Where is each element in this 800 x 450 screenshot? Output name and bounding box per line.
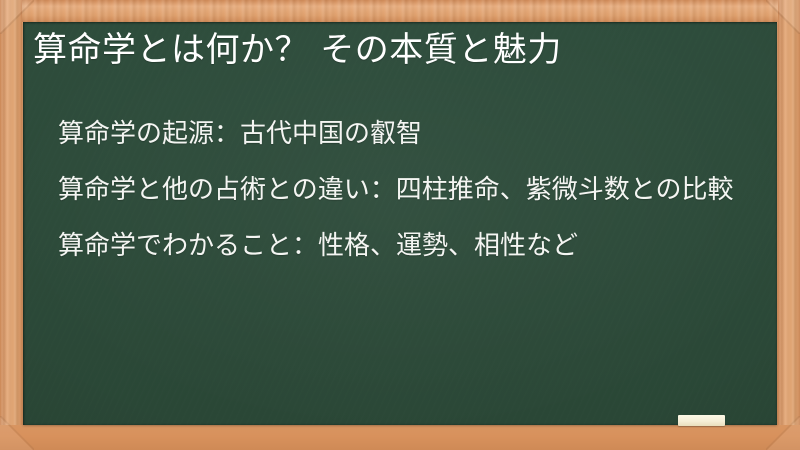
frame-bottom-ledge [0,425,800,450]
frame-top-rail [0,0,800,22]
list-item: 算命学と他の占術との違い：四柱推命、紫微斗数との比較 [58,170,737,210]
chalk-stick [678,415,725,426]
chalkboard: 算命学とは何か？ その本質と魅力 算命学の起源：古代中国の叡智 算命学と他の占術… [23,22,777,425]
frame-left-rail [0,0,22,450]
slide-screen: 算命学とは何か？ その本質と魅力 算命学の起源：古代中国の叡智 算命学と他の占術… [0,0,800,450]
list-item: 算命学の起源：古代中国の叡智 [58,114,737,154]
slide-bullet-list: 算命学の起源：古代中国の叡智 算命学と他の占術との違い：四柱推命、紫微斗数との比… [58,114,737,266]
list-item: 算命学でわかること：性格、運勢、相性など [58,226,737,266]
slide-title: 算命学とは何か？ その本質と魅力 [33,28,757,72]
frame-right-rail [778,0,800,450]
